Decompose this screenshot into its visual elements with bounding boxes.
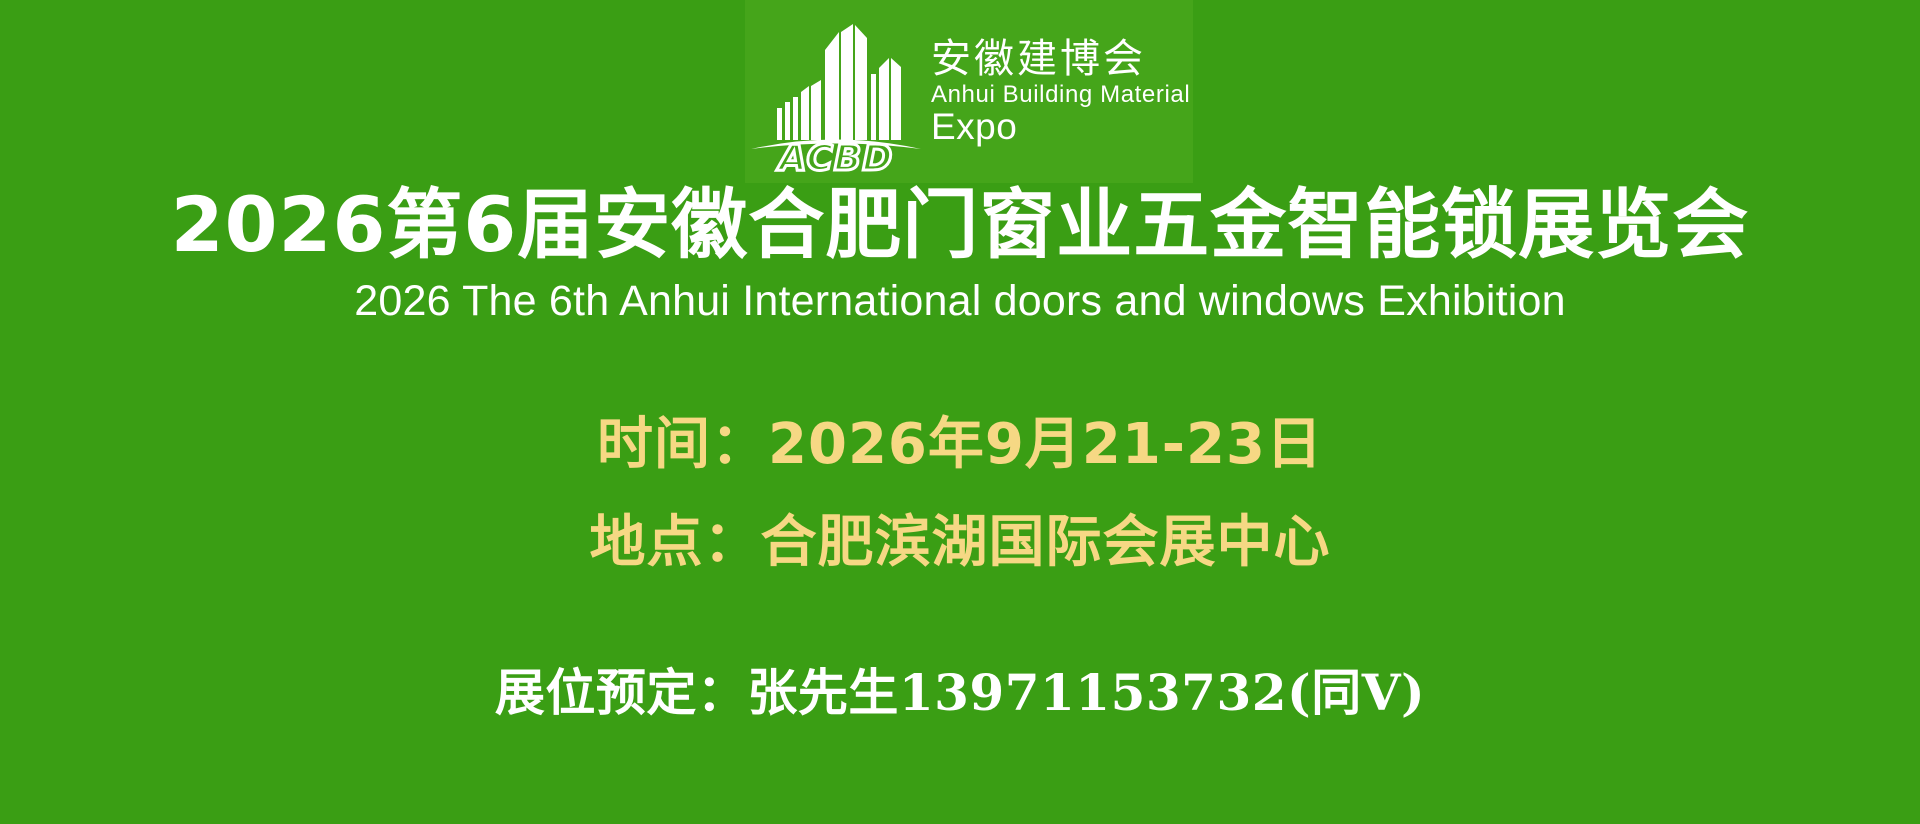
logo-wordmark: 安徽建博会 Anhui Building Material Expo: [931, 39, 1190, 145]
event-details-block: 时间：2026年9月21-23日 地点：合肥滨湖国际会展中心: [0, 417, 1920, 571]
logo-name-en-line2: Expo: [931, 108, 1190, 145]
contact-block: 展位预定：张先生13971153732(同V): [0, 668, 1920, 718]
logo-panel: ACBD 安徽建博会 Anhui Building Material Expo: [745, 0, 1193, 183]
event-date-line: 时间：2026年9月21-23日: [0, 417, 1920, 473]
booth-booking-line: 展位预定：张先生13971153732(同V): [0, 668, 1920, 718]
expo-promo-banner: ACBD 安徽建博会 Anhui Building Material Expo …: [0, 0, 1920, 824]
logo-name-en: Anhui Building Material: [931, 83, 1190, 107]
logo-name-cn: 安徽建博会: [931, 39, 1190, 79]
acbd-building-skyline-icon: ACBD: [747, 12, 925, 172]
event-title-en: 2026 The 6th Anhui International doors a…: [0, 278, 1920, 325]
svg-text:ACBD: ACBD: [776, 138, 894, 172]
event-title-cn: 2026第6届安徽合肥门窗业五金智能锁展览会: [0, 186, 1920, 264]
headline-block: 2026第6届安徽合肥门窗业五金智能锁展览会 2026 The 6th Anhu…: [0, 186, 1920, 325]
event-venue-line: 地点：合肥滨湖国际会展中心: [0, 515, 1920, 571]
